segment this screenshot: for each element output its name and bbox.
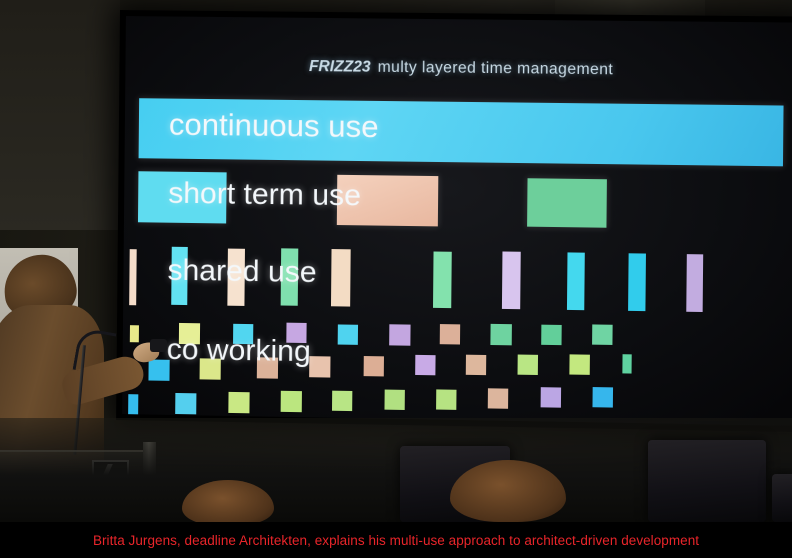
- caption-bar: Britta Jurgens, deadline Architekten, ex…: [0, 522, 792, 558]
- co-working-grid: [123, 316, 792, 327]
- row-block: [338, 324, 358, 344]
- row-block: [488, 388, 508, 408]
- audience-foreground: [0, 418, 792, 522]
- row-block: [436, 389, 456, 409]
- row-block: [569, 354, 590, 375]
- slide-row-label: co working: [167, 333, 311, 369]
- row-block: [592, 387, 613, 408]
- row-block: [490, 324, 512, 345]
- row-block: [281, 391, 302, 412]
- projection-screen: FRIZZ23multy layered time management con…: [122, 16, 792, 426]
- row-block: [622, 354, 631, 373]
- screenshot-root: FRIZZ23multy layered time management con…: [0, 0, 792, 558]
- row-block: [518, 355, 539, 375]
- slide-row-continuous-use: continuous use: [125, 98, 792, 169]
- slide-row-label: short term use: [168, 177, 361, 214]
- wall-left-panel: [0, 0, 120, 230]
- slide-row-shared-use: shared use: [123, 244, 792, 318]
- row-block: [433, 252, 452, 309]
- projection-screen-frame: FRIZZ23multy layered time management con…: [116, 10, 792, 432]
- row-block: [527, 178, 607, 227]
- row-block: [331, 249, 351, 307]
- row-block: [541, 387, 562, 408]
- row-block: [364, 356, 384, 376]
- row-block: [502, 251, 521, 309]
- presentation-clicker: [150, 339, 167, 352]
- row-block: [332, 391, 352, 411]
- row-block: [384, 390, 404, 410]
- row-block: [415, 355, 435, 375]
- row-block: [228, 392, 249, 413]
- chair: [648, 440, 766, 522]
- slide-row-short-term-use: short term use: [124, 171, 792, 234]
- row-block: [567, 252, 585, 310]
- slide-row-label: shared use: [167, 254, 316, 290]
- slide-row-co-working: co working: [122, 316, 792, 426]
- head: [182, 480, 274, 526]
- row-block: [466, 355, 486, 375]
- row-block: [309, 356, 330, 377]
- row-block: [541, 325, 562, 345]
- caption-text: Britta Jurgens, deadline Architekten, ex…: [93, 533, 699, 548]
- row-block: [389, 324, 410, 345]
- row-block: [175, 393, 196, 414]
- slide-title-rest: multy layered time management: [378, 59, 614, 79]
- row-block: [592, 324, 613, 345]
- slide-title-brand: FRIZZ23: [309, 58, 371, 76]
- row-block: [440, 324, 460, 344]
- chair: [772, 474, 792, 522]
- row-block: [628, 253, 646, 311]
- row-block: [686, 254, 703, 312]
- slide-title: FRIZZ23multy layered time management: [125, 56, 792, 81]
- slide-row-label: continuous use: [169, 107, 379, 146]
